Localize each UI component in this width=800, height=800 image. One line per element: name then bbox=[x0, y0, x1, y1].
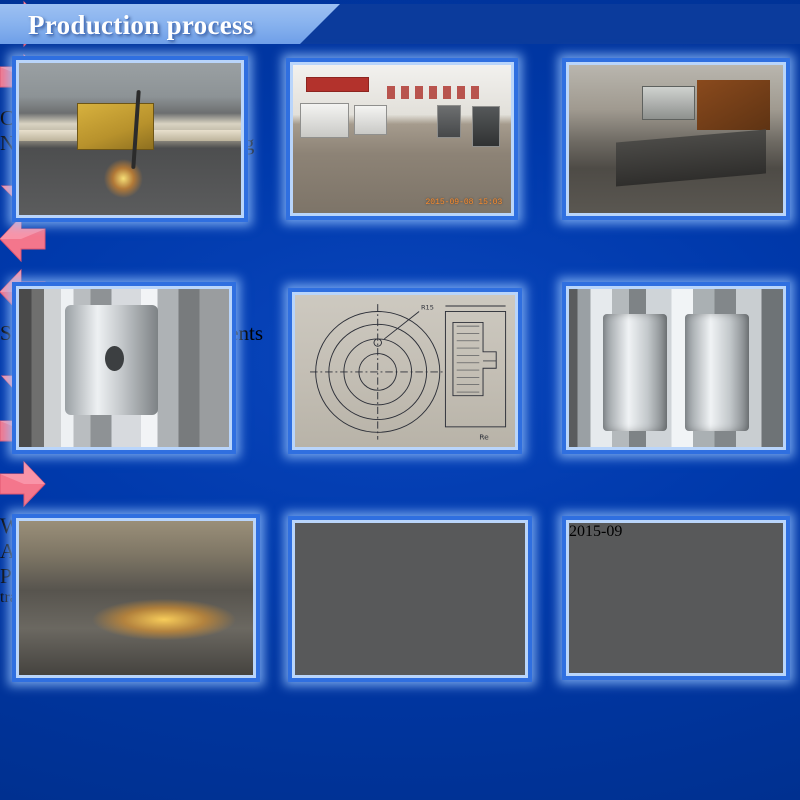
arrow-assemble-to-painting bbox=[0, 460, 800, 513]
photo-cell-cutting bbox=[12, 56, 248, 222]
photo-detail-welder bbox=[28, 546, 126, 669]
drawing-lines: R15 Re bbox=[295, 295, 515, 447]
photo-detail-machine-1 bbox=[300, 103, 350, 138]
photo-detail-wall-slogan bbox=[387, 86, 485, 99]
photo-cell-drawing: R15 Re bbox=[288, 288, 522, 454]
photo-cell-assemble bbox=[288, 516, 532, 682]
photo-detail-rusty-stock bbox=[697, 80, 770, 130]
photo-detail-machine-3 bbox=[437, 105, 461, 138]
photo-cell-cnc: 2015-09-08 15:03 bbox=[286, 58, 518, 220]
arrow-drawing-to-roller bbox=[0, 215, 800, 268]
photo-welding bbox=[19, 521, 253, 675]
photo-detail-red-banner bbox=[306, 77, 369, 92]
photo-painting: 2015-09 bbox=[569, 523, 783, 673]
photo-rolling-part bbox=[19, 289, 229, 447]
photo-timestamp-painting: 2015-09 bbox=[569, 523, 783, 541]
photo-detail-machine-2 bbox=[354, 105, 387, 135]
photo-timestamp-cnc: 2015-09-08 15:03 bbox=[425, 198, 502, 207]
photo-cell-mold bbox=[562, 58, 790, 220]
photo-detail-cabinet bbox=[642, 86, 695, 121]
photo-detail-bore bbox=[105, 346, 124, 371]
photo-cell-painting: 2015-09 bbox=[562, 516, 790, 680]
production-process-infographic: Production process 2015-09-08 15:03 bbox=[0, 0, 800, 800]
photo-detail-shaft-2 bbox=[685, 314, 749, 431]
photo-cell-roller bbox=[12, 282, 236, 454]
photo-detail-shaft-1 bbox=[603, 314, 667, 431]
photo-detail-cutting-machine bbox=[77, 103, 154, 151]
photo-machined-shafts bbox=[569, 289, 783, 447]
photo-detail-mold-plate bbox=[616, 129, 766, 186]
photo-assemble bbox=[295, 523, 525, 675]
drawing-label-corner: Re bbox=[479, 433, 489, 442]
header-banner: Production process bbox=[0, 4, 800, 44]
drawing-label-radius: R15 bbox=[421, 304, 434, 312]
photo-detail-machine-4 bbox=[472, 106, 500, 146]
photo-cell-welding bbox=[12, 514, 260, 682]
photo-numerical-control-processing: 2015-09-08 15:03 bbox=[293, 65, 511, 213]
photo-engineering-drawing: R15 Re bbox=[295, 295, 515, 447]
photo-cutting bbox=[19, 63, 241, 215]
page-title: Production process bbox=[28, 7, 254, 43]
photo-cell-shafts bbox=[562, 282, 790, 454]
photo-mold-machining bbox=[569, 65, 783, 213]
